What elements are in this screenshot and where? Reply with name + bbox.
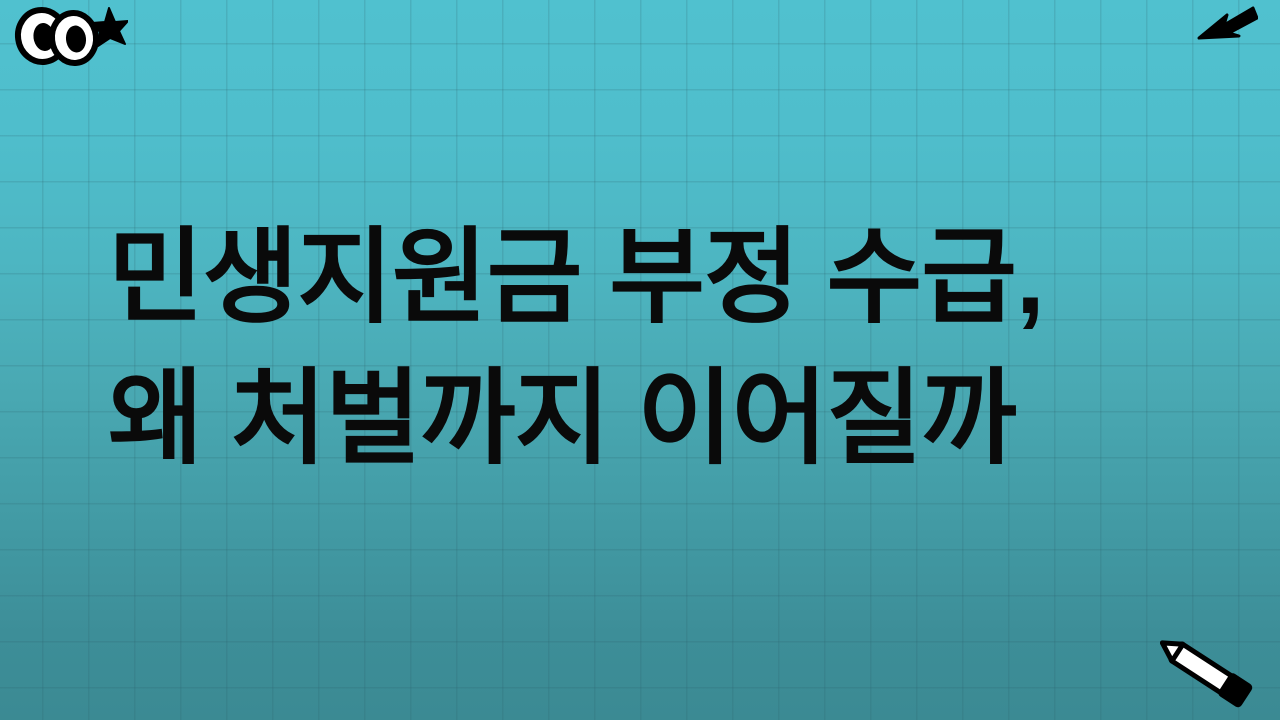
page-title: 민생지원금 부정 수급, 왜 처벌까지 이어질까 <box>108 208 1198 491</box>
thumbnail-canvas: 민생지원금 부정 수급, 왜 처벌까지 이어질까 <box>0 0 1280 720</box>
